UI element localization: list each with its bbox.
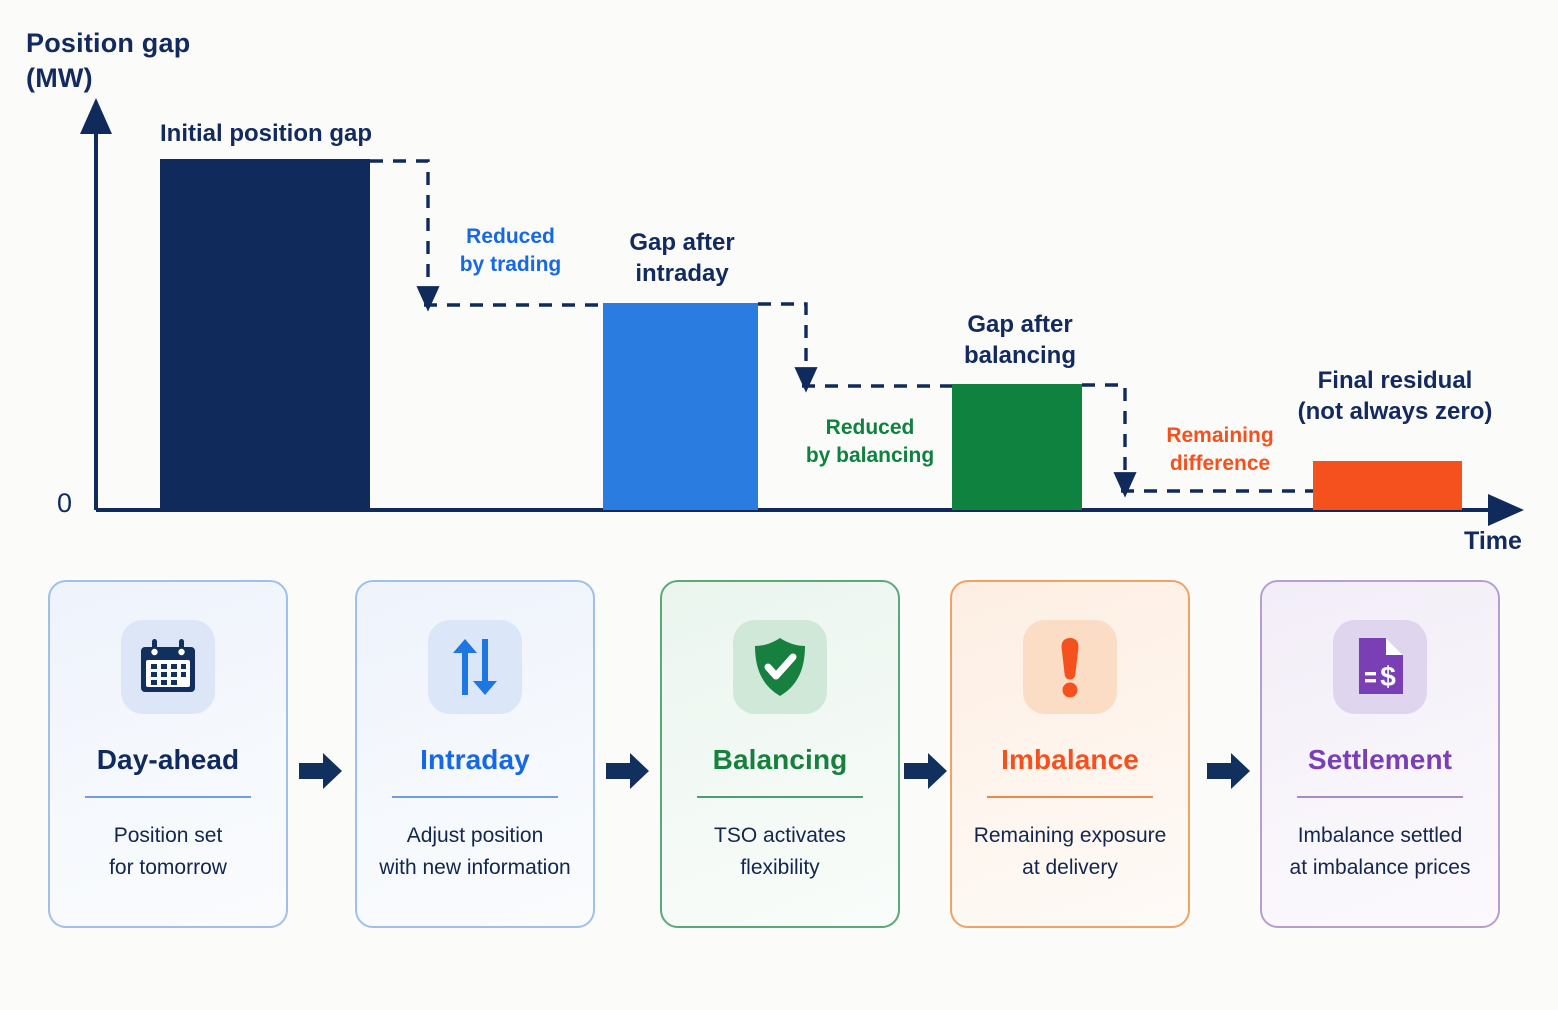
process-steps-row: Day-ahead Position set for tomorrow Intr…	[0, 570, 1558, 1010]
bar-initial-position-gap	[160, 159, 370, 510]
step-card-settlement[interactable]: $ Settlement Imbalance settled at imbala…	[1260, 580, 1500, 928]
bar-label-gap-after-intraday: Gap after intraday	[592, 227, 772, 289]
position-gap-waterfall-chart: Position gap (MW) 0 Time Initial positio…	[0, 0, 1558, 570]
step-arrow-4	[1205, 750, 1253, 792]
exclamation-mark-icon	[1023, 620, 1117, 714]
step-card-description: TSO activates flexibility	[667, 820, 893, 883]
step-card-title: Balancing	[713, 744, 848, 776]
bar-label-gap-after-balancing: Gap after balancing	[935, 309, 1105, 371]
annotation-remaining-difference: Remaining difference	[1140, 422, 1300, 479]
step-card-imbalance[interactable]: Imbalance Remaining exposure at delivery	[950, 580, 1190, 928]
step-card-description: Position set for tomorrow	[55, 820, 281, 883]
bar-gap-after-intraday	[603, 303, 758, 510]
card-divider	[1297, 796, 1463, 798]
connector-trading-drop	[370, 161, 428, 297]
step-card-day-ahead[interactable]: Day-ahead Position set for tomorrow	[48, 580, 288, 928]
bar-label-initial-position-gap: Initial position gap	[160, 118, 372, 149]
step-arrow-2	[604, 750, 652, 792]
chart-canvas	[0, 0, 1558, 570]
step-card-title: Intraday	[420, 744, 530, 776]
y-axis-zero-label: 0	[57, 488, 72, 519]
shield-check-icon	[733, 620, 827, 714]
connector-balancing-drop	[758, 304, 806, 378]
step-card-balancing[interactable]: Balancing TSO activates flexibility	[660, 580, 900, 928]
card-divider	[697, 796, 863, 798]
bar-label-final-residual: Final residual (not always zero)	[1285, 365, 1505, 427]
calendar-icon	[121, 620, 215, 714]
up-down-arrows-icon	[428, 620, 522, 714]
bar-gap-after-balancing	[952, 384, 1082, 510]
diagram-root: Position gap (MW) 0 Time Initial positio…	[0, 0, 1558, 1010]
step-card-description: Remaining exposure at delivery	[957, 820, 1183, 883]
card-divider	[85, 796, 251, 798]
y-axis-title: Position gap (MW)	[26, 26, 190, 95]
svg-text:$: $	[1380, 661, 1396, 692]
step-card-description: Adjust position with new information	[362, 820, 588, 883]
step-card-title: Imbalance	[1001, 744, 1139, 776]
connector-remaining-drop	[1082, 385, 1125, 483]
annotation-reduced-by-balancing: Reduced by balancing	[780, 414, 960, 471]
step-card-title: Settlement	[1308, 744, 1452, 776]
step-card-title: Day-ahead	[97, 744, 240, 776]
annotation-reduced-by-trading: Reduced by trading	[428, 223, 593, 280]
step-card-description: Imbalance settled at imbalance prices	[1267, 820, 1493, 883]
step-arrow-1	[297, 750, 345, 792]
card-divider	[392, 796, 558, 798]
x-axis-time-label: Time	[1464, 527, 1522, 556]
bar-final-residual	[1313, 461, 1462, 510]
card-divider	[987, 796, 1153, 798]
step-card-intraday[interactable]: Intraday Adjust position with new inform…	[355, 580, 595, 928]
invoice-dollar-icon: $	[1333, 620, 1427, 714]
step-arrow-3	[902, 750, 950, 792]
